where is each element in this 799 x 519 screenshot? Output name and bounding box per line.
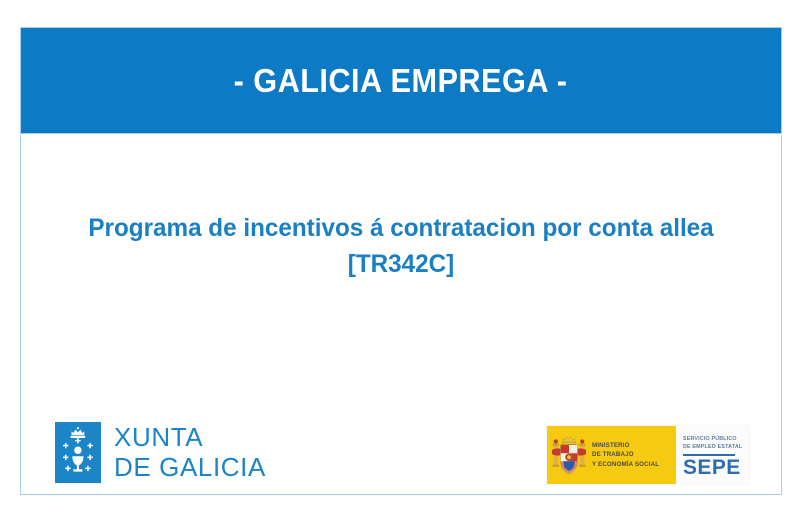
program-code: [TR342C] (73, 247, 729, 281)
xunta-wordmark-line-2: DE GALICIA (114, 453, 266, 482)
sepe-ministerio-logo: MINISTERIO DE TRABAJO Y ECONOMÍA SOCIAL … (547, 426, 749, 484)
servicio-publico-line-2: DE EMPLEO ESTATAL (683, 443, 749, 451)
xunta-de-galicia-emblem (55, 422, 101, 483)
ministerio-line-1: MINISTERIO (592, 441, 659, 451)
slide-container: - GALICIA EMPREGA - Programa de incentiv… (20, 27, 782, 495)
program-title: Programa de incentivos á contratacion po… (73, 211, 729, 282)
xunta-de-galicia-logo: XUNTA DE GALICIA (55, 422, 266, 483)
xunta-wordmark-line-1: XUNTA (114, 423, 266, 452)
page-title: - GALICIA EMPREGA - (234, 62, 568, 100)
content-panel: Programa de incentivos á contratacion po… (20, 135, 782, 495)
servicio-publico-line-1: SERVICIO PÚBLICO (683, 435, 749, 443)
ministerio-line-3: Y ECONOMÍA SOCIAL (592, 460, 659, 470)
chalice-crown-crosses-icon (55, 422, 101, 483)
header-banner: - GALICIA EMPREGA - (20, 27, 782, 134)
ministerio-block: MINISTERIO DE TRABAJO Y ECONOMÍA SOCIAL (547, 426, 676, 484)
sepe-acronym: SEPE (683, 457, 749, 478)
ministerio-line-2: DE TRABAJO (592, 450, 659, 460)
xunta-de-galicia-wordmark: XUNTA DE GALICIA (114, 423, 266, 481)
spain-coat-of-arms-icon (551, 432, 587, 478)
ministerio-wordmark: MINISTERIO DE TRABAJO Y ECONOMÍA SOCIAL (592, 441, 659, 470)
sepe-block: SERVICIO PÚBLICO DE EMPLEO ESTATAL SEPE (676, 426, 749, 484)
program-title-line-2: allea (660, 214, 714, 242)
logo-row: XUNTA DE GALICIA (21, 415, 783, 495)
program-title-line-1: Programa de incentivos á contratacion po… (88, 214, 653, 242)
